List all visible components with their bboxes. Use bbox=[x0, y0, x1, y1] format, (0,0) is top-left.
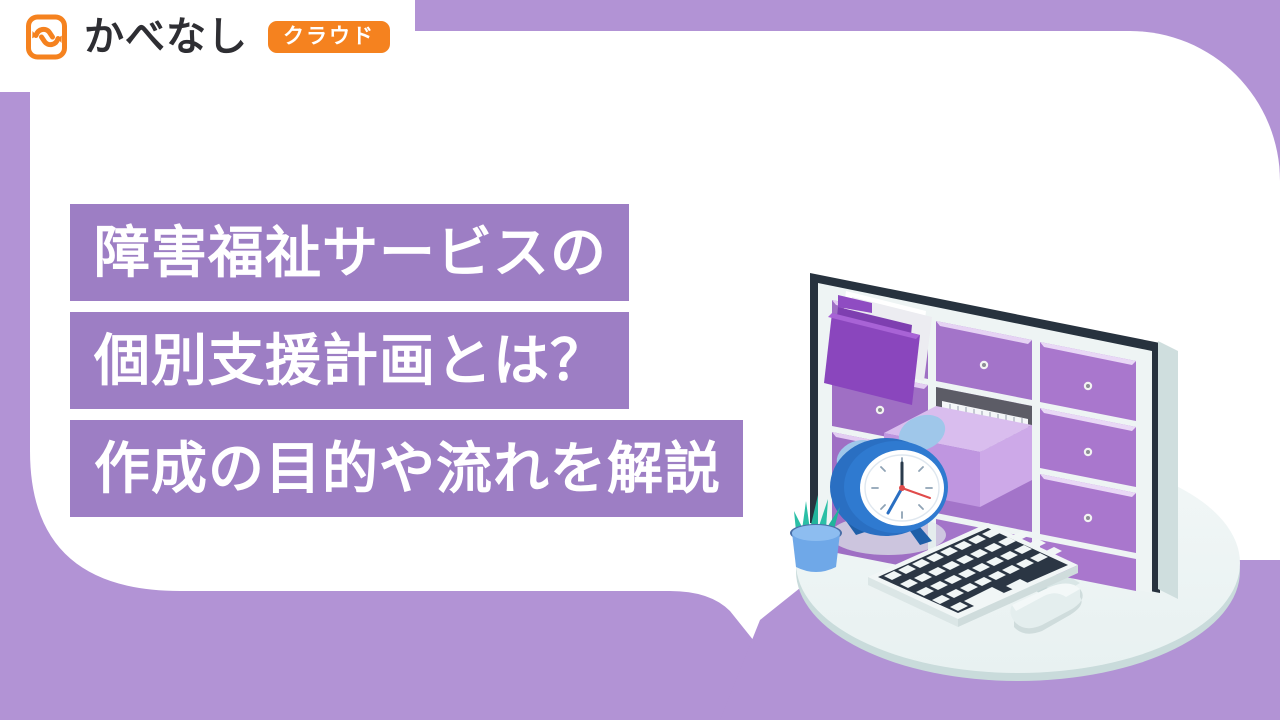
headline-line-3: 作成の目的や流れを解説 bbox=[70, 420, 743, 517]
headline-line-2: 個別支援計画とは？ bbox=[70, 312, 629, 409]
brand-wordmark: かべなし bbox=[84, 14, 248, 60]
page-title: 障害福祉サービスの 個別支援計画とは？ 作成の目的や流れを解説 bbox=[70, 204, 743, 517]
headline-line-1: 障害福祉サービスの bbox=[70, 204, 629, 301]
isometric-desk-illustration bbox=[760, 255, 1280, 685]
cloud-badge: クラウド bbox=[268, 21, 390, 53]
sync-square-icon bbox=[24, 14, 70, 60]
hero-banner: かべなし クラウド 障害福祉サービスの 個別支援計画とは？ 作成の目的や流れを解… bbox=[0, 0, 1280, 720]
brand-logo-bar[interactable]: かべなし クラウド bbox=[24, 14, 390, 60]
